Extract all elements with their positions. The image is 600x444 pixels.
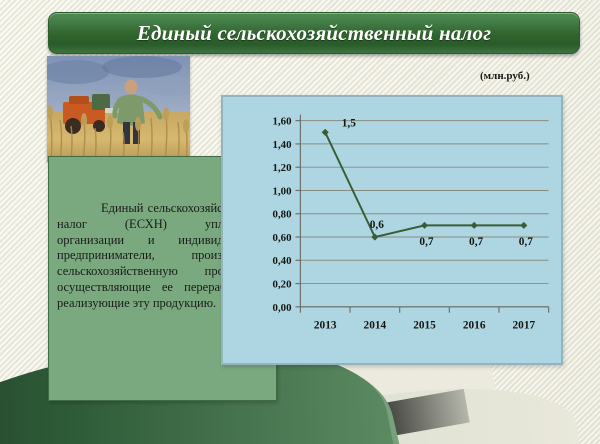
svg-text:0,7: 0,7 <box>419 236 433 248</box>
svg-text:2013: 2013 <box>314 320 337 332</box>
svg-text:1,00: 1,00 <box>273 185 292 197</box>
svg-text:0,7: 0,7 <box>519 236 533 248</box>
svg-text:2015: 2015 <box>413 320 436 332</box>
svg-text:0,80: 0,80 <box>273 209 292 221</box>
chart-x-axis-labels: 20132014201520162017 <box>314 320 536 332</box>
svg-text:2016: 2016 <box>463 320 486 332</box>
slide: Единый сельскохозяйственный налог <box>0 0 600 444</box>
chart-y-axis-labels: 0,000,200,400,600,801,001,201,401,60 <box>273 116 292 314</box>
chart-x-axis-ticks <box>300 307 548 313</box>
chart-panel: 0,000,200,400,600,801,001,201,401,60 201… <box>221 95 563 365</box>
svg-text:0,00: 0,00 <box>273 302 292 314</box>
svg-text:1,20: 1,20 <box>273 162 292 174</box>
slide-title-bar: Единый сельскохозяйственный налог <box>48 12 580 54</box>
svg-text:1,5: 1,5 <box>342 117 356 129</box>
chart-series-markers <box>322 129 528 241</box>
harvest-photo <box>47 56 190 162</box>
svg-text:1,60: 1,60 <box>273 116 292 128</box>
chart-units-label: (млн.руб.) <box>480 70 530 82</box>
svg-text:0,7: 0,7 <box>469 236 483 248</box>
svg-text:0,40: 0,40 <box>273 255 292 267</box>
svg-text:2017: 2017 <box>513 320 536 332</box>
chart-series-line <box>325 132 524 237</box>
svg-text:2014: 2014 <box>364 320 387 332</box>
slide-title: Единый сельскохозяйственный налог <box>137 21 491 46</box>
svg-text:0,20: 0,20 <box>273 279 292 291</box>
svg-text:1,40: 1,40 <box>273 139 292 151</box>
chart-data-labels: 1,50,60,70,70,7 <box>342 117 533 248</box>
svg-text:0,6: 0,6 <box>370 219 384 231</box>
line-chart: 0,000,200,400,600,801,001,201,401,60 201… <box>223 97 561 363</box>
svg-text:0,60: 0,60 <box>273 232 292 244</box>
